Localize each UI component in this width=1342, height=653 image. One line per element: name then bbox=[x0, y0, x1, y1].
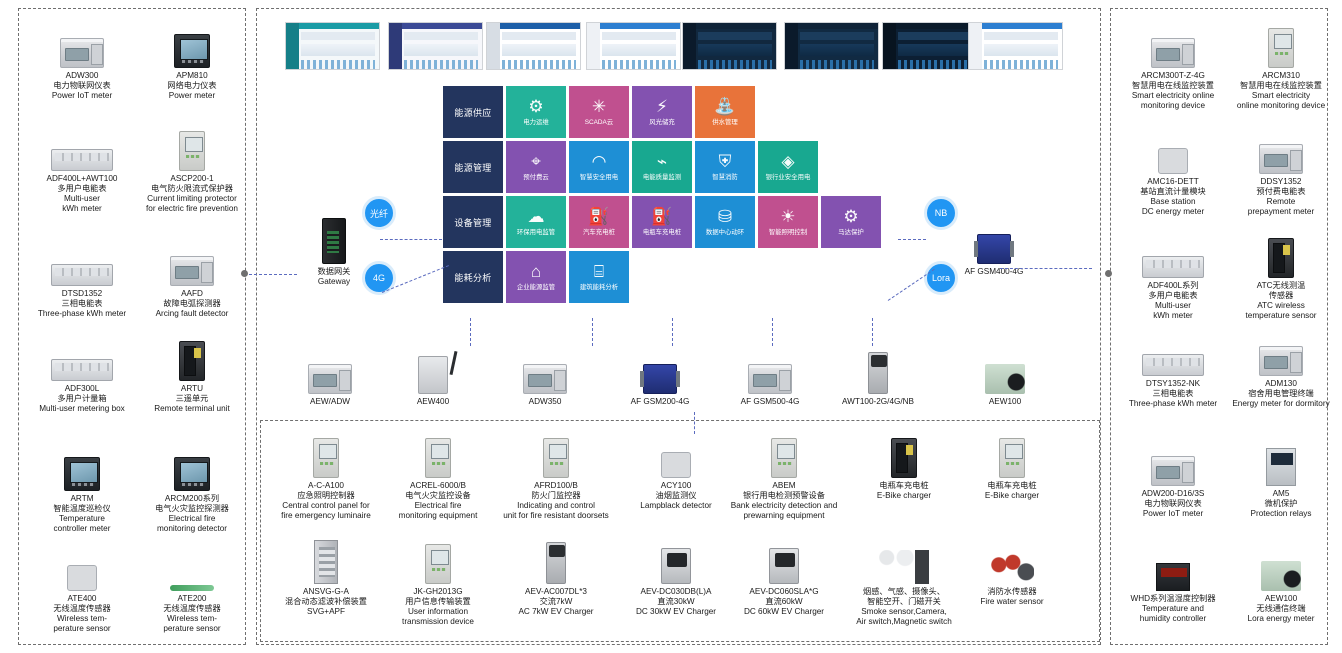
gateway-device-icon bbox=[300, 218, 368, 264]
device-en-label: Power meter bbox=[142, 91, 242, 101]
tile-icon: ◠ bbox=[592, 153, 607, 170]
network-badge-fiber-label: 光纤 bbox=[370, 207, 388, 220]
device-en-label: Energy meter for dormitory bbox=[1230, 399, 1332, 409]
device-en-label: Remote prepayment meter bbox=[1230, 197, 1332, 217]
platform-tile-电力运维[interactable]: ⚙电力运维 bbox=[506, 86, 566, 138]
tile-row-label-text: 能源供应 bbox=[454, 106, 491, 119]
device-en-label: User information transmission device bbox=[382, 607, 494, 627]
network-badge-lora[interactable]: Lora bbox=[924, 261, 958, 295]
device-model-label: DDSY1352 bbox=[1230, 177, 1332, 187]
device-model-label: AEV-DC030DB(L)A bbox=[620, 587, 732, 597]
device-model-label: ARCM310 bbox=[1230, 71, 1332, 81]
platform-tile-汽车充电桩[interactable]: ⛽汽车充电桩 bbox=[569, 196, 629, 248]
thumbnail-topbar bbox=[587, 23, 680, 29]
tile-icon: ⌁ bbox=[657, 153, 667, 170]
thumbnail-sidebar bbox=[487, 23, 500, 69]
tile-label: 供水管理 bbox=[710, 119, 740, 126]
device-en-label: Temperature and humidity controller bbox=[1122, 604, 1224, 624]
device-cn-label: 应急照明控制器 bbox=[270, 491, 382, 501]
connector-drop-2 bbox=[592, 318, 593, 346]
tile-icon: ☀ bbox=[780, 208, 795, 225]
device-model-label: AWT100-2G/4G/NB bbox=[828, 397, 928, 407]
tile-label: 电瓶车充电桩 bbox=[641, 229, 683, 236]
device-cn-label: 三相电能表 bbox=[32, 299, 132, 309]
lora-meter-icon bbox=[955, 348, 1055, 394]
thumbnail-body bbox=[502, 32, 576, 66]
thumbnail-body bbox=[800, 32, 874, 66]
device-en-label: Central control panel for fire emergency… bbox=[270, 501, 382, 521]
device-model-label: ADW300 bbox=[32, 71, 132, 81]
tile-icon: ⛨ bbox=[719, 153, 732, 170]
din-rail-meter-icon bbox=[1230, 330, 1332, 376]
device-cell: AEW100无线通信终端Lora energy meter bbox=[1230, 545, 1332, 624]
tile-icon: ☁ bbox=[528, 208, 545, 225]
connector-drop-3 bbox=[672, 318, 673, 346]
tile-row-label-text: 设备管理 bbox=[454, 216, 491, 229]
platform-tile-风光储充[interactable]: ⚡风光储充 bbox=[632, 86, 692, 138]
device-cell: WHD系列温湿度控制器Temperature and humidity cont… bbox=[1122, 545, 1224, 624]
device-cell: ARTU三遥单元Remote terminal unit bbox=[142, 335, 242, 414]
device-cell: AEV-AC007DL*3交流7kWAC 7kW EV Charger bbox=[500, 538, 612, 617]
thumbnail-sidebar bbox=[883, 23, 896, 69]
din-rail-meter-icon bbox=[720, 348, 820, 394]
device-cn-label: 宿舍用电管理终端 bbox=[1230, 389, 1332, 399]
device-cell: DTSY1352-NK三相电能表Three-phase kWh meter bbox=[1122, 330, 1224, 409]
device-en-label: Multi-user metering box bbox=[32, 404, 132, 414]
device-en-label: Electrical fire monitoring detector bbox=[142, 514, 242, 534]
sensor-set-icon bbox=[848, 538, 960, 584]
device-en-label: Electrical fire monitoring equipment bbox=[382, 501, 494, 521]
device-cell: AEV-DC030DB(L)A直流30kWDC 30kW EV Charger bbox=[620, 538, 732, 617]
platform-module-grid: 能源供应⚙电力运维✳SCADA云⚡风光储充⛲供水管理能源管理⌖预付费云◠智慧安全… bbox=[443, 86, 884, 306]
device-cell: ADF400L系列多用户电能表Multi-user kWh meter bbox=[1122, 232, 1224, 321]
device-cn-label: 多用户电能表 bbox=[1122, 291, 1224, 301]
network-badge-fiber[interactable]: 光纤 bbox=[362, 196, 396, 230]
network-badge-4g-label: 4G bbox=[373, 273, 385, 283]
tile-row-label: 能源管理 bbox=[443, 141, 503, 193]
device-en-label: Wireless tem- perature sensor bbox=[32, 614, 132, 634]
device-model-label: DTSY1352-NK bbox=[1122, 379, 1224, 389]
ct-meter-icon bbox=[1122, 440, 1224, 486]
device-cn-label: 微机保护 bbox=[1230, 499, 1332, 509]
platform-tile-马达保护[interactable]: ⚙马达保护 bbox=[821, 196, 881, 248]
network-badge-4g[interactable]: 4G bbox=[362, 261, 396, 295]
device-cell: AF GSM200-4G bbox=[610, 348, 710, 407]
device-model-label: ACY100 bbox=[620, 481, 732, 491]
multi-user-meter-icon bbox=[1122, 232, 1224, 278]
device-cell: ARTM智能温度巡检仪Temperature controller meter bbox=[32, 445, 132, 534]
cabinet-icon bbox=[382, 432, 494, 478]
light-charger-icon bbox=[956, 432, 1068, 478]
device-cell: A-C-A100应急照明控制器Central control panel for… bbox=[270, 432, 382, 521]
tile-label: 数据中心动环 bbox=[704, 229, 746, 236]
platform-tile-企业能源监管[interactable]: ⌂企业能源监管 bbox=[506, 251, 566, 303]
device-en-label: Current limiting protector for electric … bbox=[142, 194, 242, 214]
probe-sensor-icon bbox=[142, 545, 242, 591]
temp-controller-icon bbox=[1122, 545, 1224, 591]
tile-row-label-text: 能源管理 bbox=[454, 161, 491, 174]
tile-icon: ⛽ bbox=[588, 208, 609, 225]
device-model-label: ARCM200系列 bbox=[142, 494, 242, 504]
tile-label: 风光储充 bbox=[647, 119, 677, 126]
device-model-label: AF GSM500-4G bbox=[720, 397, 820, 407]
device-model-label: AEV-DC060SLA*G bbox=[728, 587, 840, 597]
device-cn-label: 电气火灾监控探测器 bbox=[142, 504, 242, 514]
thumbnail-topbar bbox=[487, 23, 580, 29]
device-cn-label: 智慧用电在线监控装置 bbox=[1122, 81, 1224, 91]
tile-row-label: 能耗分析 bbox=[443, 251, 503, 303]
gateway-node: 数据网关 Gateway bbox=[300, 218, 368, 287]
thumbnail-body bbox=[984, 32, 1058, 66]
thumbnail-dashboard-navy[interactable] bbox=[388, 22, 483, 70]
thumbnail-sidebar bbox=[389, 23, 402, 69]
device-cell: AM5微机保护Protection relays bbox=[1230, 440, 1332, 519]
device-en-label: E-Bike charger bbox=[848, 491, 960, 501]
device-cn-label: 无线温度传感器 bbox=[32, 604, 132, 614]
device-en-label: Smart electricity online monitoring devi… bbox=[1230, 91, 1332, 111]
device-cn-label: 预付费电能表 bbox=[1230, 187, 1332, 197]
ev-box-icon bbox=[620, 538, 732, 584]
thumbnail-topbar bbox=[969, 23, 1062, 29]
device-model-label: ATE200 bbox=[142, 594, 242, 604]
device-cn-label: 电气火灾监控设备 bbox=[382, 491, 494, 501]
device-cn-label: 用户信息传输装置 bbox=[382, 597, 494, 607]
device-model-label: ASCP200-1 bbox=[142, 174, 242, 184]
device-cn-label: 电气防火限流式保护器 bbox=[142, 184, 242, 194]
tile-icon: ⛲ bbox=[714, 98, 735, 115]
tile-row-label-text: 能耗分析 bbox=[454, 271, 491, 284]
device-model-label: AFRD100/B bbox=[500, 481, 612, 491]
device-cell: ATE400无线温度传感器Wireless tem- perature sens… bbox=[32, 545, 132, 634]
tile-label: 企业能源监管 bbox=[515, 284, 557, 291]
device-cell: ACY100油烟监测仪Lampblack detector bbox=[620, 432, 732, 511]
device-cell: AF GSM500-4G bbox=[720, 348, 820, 407]
thumbnail-dashboard-map-cn[interactable] bbox=[784, 22, 879, 70]
device-cell: ADF300L多用户计量箱Multi-user metering box bbox=[32, 335, 132, 414]
thumbnail-sidebar bbox=[587, 23, 600, 69]
gateway-label-cn: 数据网关 bbox=[300, 267, 368, 277]
thumbnail-dashboard-teal[interactable] bbox=[285, 22, 380, 70]
din-rail-meter-icon bbox=[142, 240, 242, 286]
din-rail-meter-icon bbox=[1122, 22, 1224, 68]
device-cell: AEW100 bbox=[955, 348, 1055, 407]
tile-label: 电力运维 bbox=[521, 119, 551, 126]
device-cell: ARCM200系列电气火灾监控探测器Electrical fire monito… bbox=[142, 445, 242, 534]
device-model-label: ARTM bbox=[32, 494, 132, 504]
tile-icon: ⌂ bbox=[531, 263, 541, 280]
device-model-label: ANSVG-G-A bbox=[270, 587, 382, 597]
device-model-label: APM810 bbox=[142, 71, 242, 81]
device-model-label: ADM130 bbox=[1230, 379, 1332, 389]
device-en-label: DC 30kW EV Charger bbox=[620, 607, 732, 617]
platform-tile-数据中心动环[interactable]: ⛁数据中心动环 bbox=[695, 196, 755, 248]
thumbnail-topbar bbox=[883, 23, 976, 29]
console-icon bbox=[270, 432, 382, 478]
tile-label: 银行业安全用电 bbox=[764, 174, 813, 181]
lampblack-icon bbox=[620, 432, 732, 478]
cabinet-icon bbox=[500, 432, 612, 478]
tile-icon: ⚙ bbox=[528, 98, 543, 115]
device-cn-label: 无线通信终端 bbox=[1230, 604, 1332, 614]
platform-tile-智慧安全用电[interactable]: ◠智慧安全用电 bbox=[569, 141, 629, 193]
tile-label: 马达保护 bbox=[836, 229, 866, 236]
device-cell: DDSY1352预付费电能表Remote prepayment meter bbox=[1230, 128, 1332, 217]
fire-water-icon bbox=[956, 538, 1068, 584]
device-cell: AMC16-DETT基站直流计量模块Base station DC energy… bbox=[1122, 128, 1224, 217]
device-cell: ADW350 bbox=[495, 348, 595, 407]
thumbnail-topbar bbox=[389, 23, 482, 29]
thumbnail-sidebar bbox=[683, 23, 696, 69]
connector-gsm400-to-right bbox=[1000, 268, 1092, 269]
thumbnail-dashboard-dark[interactable] bbox=[682, 22, 777, 70]
platform-tile-电能质量监测[interactable]: ⌁电能质量监测 bbox=[632, 141, 692, 193]
device-cell: AAFD故障电弧探测器Arcing fault detector bbox=[142, 240, 242, 319]
device-cn-label: 多用户电能表 bbox=[32, 184, 132, 194]
device-cn-label: 直流60kW bbox=[728, 597, 840, 607]
device-cell: AEV-DC060SLA*G直流60kWDC 60kW EV Charger bbox=[728, 538, 840, 617]
device-cell: ATE200无线温度传感器Wireless tem- perature sens… bbox=[142, 545, 242, 634]
thumbnail-topbar bbox=[683, 23, 776, 29]
tile-icon: ✳ bbox=[592, 98, 606, 115]
thumbnail-dashboard-map-dark[interactable] bbox=[882, 22, 977, 70]
panel-meter-icon bbox=[32, 445, 132, 491]
multi-user-meter-icon bbox=[32, 240, 132, 286]
cabinet-icon bbox=[142, 125, 242, 171]
tile-label: 智慧消防 bbox=[710, 174, 740, 181]
platform-tile-SCADA云[interactable]: ✳SCADA云 bbox=[569, 86, 629, 138]
device-cn-label: 烟感、气感、摄像头、 智能空开、门磁开关 bbox=[848, 587, 960, 607]
tile-label: 建筑能耗分析 bbox=[578, 284, 620, 291]
device-model-label: AF GSM200-4G bbox=[610, 397, 710, 407]
thumbnail-dashboard-colorbar[interactable] bbox=[586, 22, 681, 70]
platform-tile-供水管理[interactable]: ⛲供水管理 bbox=[695, 86, 755, 138]
device-cn-label: 三遥单元 bbox=[142, 394, 242, 404]
device-cn-label: 直流30kW bbox=[620, 597, 732, 607]
device-en-label: Base station DC energy meter bbox=[1122, 197, 1224, 217]
device-model-label: AMC16-DETT bbox=[1122, 177, 1224, 187]
dark-charger-icon bbox=[848, 432, 960, 478]
tile-label: 预付费云 bbox=[521, 174, 551, 181]
connector-drop-5 bbox=[872, 318, 873, 346]
din-rail-antenna-icon bbox=[495, 348, 595, 394]
device-cell: AEW/ADW bbox=[280, 348, 380, 407]
device-cn-label: 油烟监测仪 bbox=[620, 491, 732, 501]
device-cell: DTSD1352三相电能表Three-phase kWh meter bbox=[32, 240, 132, 319]
device-cn-label: 三相电能表 bbox=[1122, 389, 1224, 399]
device-model-label: ATE400 bbox=[32, 594, 132, 604]
device-en-label: E-Bike charger bbox=[956, 491, 1068, 501]
device-model-label: AEW100 bbox=[955, 397, 1055, 407]
svg-cabinet-icon bbox=[270, 538, 382, 584]
device-en-label: Multi-user kWh meter bbox=[32, 194, 132, 214]
device-cn-label: 电力物联网仪表 bbox=[1122, 499, 1224, 509]
device-en-label: Wireless tem- perature sensor bbox=[142, 614, 242, 634]
device-model-label: ADF400L+AWT100 bbox=[32, 174, 132, 184]
device-cn-label: 电力物联网仪表 bbox=[32, 81, 132, 91]
tile-label: 汽车充电桩 bbox=[581, 229, 617, 236]
din-rail-meter-icon bbox=[1230, 128, 1332, 174]
device-cn-label: 防火门监控器 bbox=[500, 491, 612, 501]
device-cell: ANSVG-G-A混合动态滤波补偿装置SVG+APF bbox=[270, 538, 382, 617]
dark-cabinet-icon bbox=[142, 335, 242, 381]
tile-row-0: 能源供应⚙电力运维✳SCADA云⚡风光储充⛲供水管理 bbox=[443, 86, 884, 138]
cabinet-icon bbox=[382, 538, 494, 584]
device-cell: AEW400 bbox=[383, 348, 483, 407]
cabinet-icon bbox=[728, 432, 840, 478]
device-cell: 电瓶车充电桩E-Bike charger bbox=[848, 432, 960, 501]
device-en-label: Three-phase kWh meter bbox=[32, 309, 132, 319]
tile-label: 智慧安全用电 bbox=[578, 174, 620, 181]
device-cn-label: 银行用电检测预警设备 bbox=[728, 491, 840, 501]
diagram-root: 能源供应⚙电力运维✳SCADA云⚡风光储充⛲供水管理能源管理⌖预付费云◠智慧安全… bbox=[0, 0, 1342, 653]
device-model-label: JK-GH2013G bbox=[382, 587, 494, 597]
connector-platform-to-nb bbox=[898, 239, 926, 240]
network-badge-nb-label: NB bbox=[935, 208, 948, 218]
panel-meter-icon bbox=[142, 445, 242, 491]
device-cn-label: 多用户计量箱 bbox=[32, 394, 132, 404]
thumbnail-body bbox=[602, 32, 676, 66]
device-model-label: ADW200-D16/3S bbox=[1122, 489, 1224, 499]
device-cell: ATC无线测温传感器ATC wireless temperature senso… bbox=[1230, 232, 1332, 321]
relay-icon bbox=[1230, 440, 1332, 486]
device-model-label: ARTU bbox=[142, 384, 242, 394]
device-cn-label: 故障电弧探测器 bbox=[142, 299, 242, 309]
device-cn-label: 基站直流计量模块 bbox=[1122, 187, 1224, 197]
thumbnail-sidebar bbox=[286, 23, 299, 69]
thumbnail-body bbox=[698, 32, 772, 66]
device-en-label: Bank electricity detection and prewarnin… bbox=[728, 501, 840, 521]
tile-icon: ⚡ bbox=[656, 98, 668, 115]
device-cn-label: 电瓶车充电桩 bbox=[848, 481, 960, 491]
tile-row-label: 设备管理 bbox=[443, 196, 503, 248]
device-cell: 消防水传感器Fire water sensor bbox=[956, 538, 1068, 607]
tile-icon: ⚙ bbox=[843, 208, 858, 225]
connector-fiber-to-platform bbox=[380, 239, 442, 240]
platform-tile-电瓶车充电桩[interactable]: ⛽电瓶车充电桩 bbox=[632, 196, 692, 248]
device-model-label: AAFD bbox=[142, 289, 242, 299]
thumbnail-dashboard-report[interactable] bbox=[968, 22, 1063, 70]
device-en-label: DC 60kW EV Charger bbox=[728, 607, 840, 617]
device-en-label: Remote terminal unit bbox=[142, 404, 242, 414]
device-cell: APM810网络电力仪表Power meter bbox=[142, 22, 242, 101]
device-en-label: Protection relays bbox=[1230, 509, 1332, 519]
multi-user-meter-icon bbox=[1122, 330, 1224, 376]
dark-cabinet-icon bbox=[1230, 232, 1332, 278]
device-cell: ASCP200-1电气防火限流式保护器Current limiting prot… bbox=[142, 125, 242, 214]
device-cell: ACREL-6000/B电气火灾监控设备Electrical fire moni… bbox=[382, 432, 494, 521]
tile-label: 智能照明控制 bbox=[767, 229, 809, 236]
device-model-label: ARCM300T-Z-4G bbox=[1122, 71, 1224, 81]
device-en-label: Indicating and control unit for fire res… bbox=[500, 501, 612, 521]
device-model-label: ABEM bbox=[728, 481, 840, 491]
device-cn-label: 消防水传感器 bbox=[956, 587, 1068, 597]
node-right-bus bbox=[1105, 270, 1112, 277]
platform-tile-环保用电监管[interactable]: ☁环保用电监管 bbox=[506, 196, 566, 248]
device-model-label: ACREL-6000/B bbox=[382, 481, 494, 491]
network-badge-nb[interactable]: NB bbox=[924, 196, 958, 230]
thumbnail-sidebar bbox=[969, 23, 982, 69]
thumbnail-body bbox=[404, 32, 478, 66]
device-cell: ARCM300T-Z-4G智慧用电在线监控装置Smart electricity… bbox=[1122, 22, 1224, 111]
connector-drop-4 bbox=[772, 318, 773, 346]
device-model-label: ATC无线测温 bbox=[1230, 281, 1332, 291]
device-en-label: Three-phase kWh meter bbox=[1122, 399, 1224, 409]
slim-module-icon bbox=[1230, 22, 1332, 68]
device-cell: ADW200-D16/3S电力物联网仪表Power IoT meter bbox=[1122, 440, 1224, 519]
node-left-bus bbox=[241, 270, 248, 277]
device-en-label: Smart electricity online monitoring devi… bbox=[1122, 91, 1224, 111]
device-cn-label: 智能温度巡检仪 bbox=[32, 504, 132, 514]
device-en-label: Multi-user kWh meter bbox=[1122, 301, 1224, 321]
din-rail-gateway-icon bbox=[280, 348, 380, 394]
router-icon bbox=[383, 348, 483, 394]
thumbnail-body bbox=[898, 32, 972, 66]
tile-label: SCADA云 bbox=[583, 119, 615, 126]
temp-sensor-icon bbox=[32, 545, 132, 591]
device-model-label: WHD系列温湿度控制器 bbox=[1122, 594, 1224, 604]
tile-label: 环保用电监管 bbox=[515, 229, 557, 236]
tile-icon: ⌸ bbox=[594, 263, 604, 280]
device-en-label: Arcing fault detector bbox=[142, 309, 242, 319]
device-cell: 烟感、气感、摄像头、 智能空开、门磁开关Smoke sensor,Camera,… bbox=[848, 538, 960, 627]
device-cell: AFRD100/B防火门监控器Indicating and control un… bbox=[500, 432, 612, 521]
platform-tile-银行业安全用电[interactable]: ◈银行业安全用电 bbox=[758, 141, 818, 193]
gateway-label-en: Gateway bbox=[300, 277, 368, 287]
device-model-label: ADW350 bbox=[495, 397, 595, 407]
device-en-label: Lora energy meter bbox=[1230, 614, 1332, 624]
platform-tile-智慧消防[interactable]: ⛨智慧消防 bbox=[695, 141, 755, 193]
device-en-label: AC 7kW EV Charger bbox=[500, 607, 612, 617]
lora-meter-icon bbox=[1230, 545, 1332, 591]
thumbnail-body bbox=[301, 32, 375, 66]
metering-box-icon bbox=[32, 335, 132, 381]
device-cell: ARCM310智慧用电在线监控装置Smart electricity onlin… bbox=[1230, 22, 1332, 111]
tile-icon: ⌖ bbox=[531, 153, 541, 170]
thumbnail-sidebar bbox=[785, 23, 798, 69]
device-en-label: Lampblack detector bbox=[620, 501, 732, 511]
thumbnail-dashboard-chart[interactable] bbox=[486, 22, 581, 70]
device-cn-label: 电瓶车充电桩 bbox=[956, 481, 1068, 491]
device-cn-label: 网络电力仪表 bbox=[142, 81, 242, 91]
device-cell: 电瓶车充电桩E-Bike charger bbox=[956, 432, 1068, 501]
ev-post-icon bbox=[500, 538, 612, 584]
device-model-label: AM5 bbox=[1230, 489, 1332, 499]
device-cell: ADM130宿舍用电管理终端Energy meter for dormitory bbox=[1230, 330, 1332, 409]
gsm-box-icon bbox=[950, 218, 1038, 264]
device-model-label: AEW400 bbox=[383, 397, 483, 407]
device-cell: ABEM银行用电检测预警设备Bank electricity detection… bbox=[728, 432, 840, 521]
platform-tile-建筑能耗分析[interactable]: ⌸建筑能耗分析 bbox=[569, 251, 629, 303]
platform-tile-预付费云[interactable]: ⌖预付费云 bbox=[506, 141, 566, 193]
din-rail-meter-icon bbox=[32, 22, 132, 68]
wireless-stick-icon bbox=[828, 348, 928, 394]
tile-icon: ◈ bbox=[781, 153, 794, 170]
tile-row-3: 能耗分析⌂企业能源监管⌸建筑能耗分析 bbox=[443, 251, 884, 303]
module-box-icon bbox=[1122, 128, 1224, 174]
device-model-label: A-C-A100 bbox=[270, 481, 382, 491]
device-cn-label: 交流7kW bbox=[500, 597, 612, 607]
device-model-label: AEV-AC007DL*3 bbox=[500, 587, 612, 597]
device-en-label: SVG+APF bbox=[270, 607, 382, 617]
multi-user-meter-icon bbox=[32, 125, 132, 171]
platform-tile-智能照明控制[interactable]: ☀智能照明控制 bbox=[758, 196, 818, 248]
device-cell: AWT100-2G/4G/NB bbox=[828, 348, 928, 407]
tile-row-2: 设备管理☁环保用电监管⛽汽车充电桩⛽电瓶车充电桩⛁数据中心动环☀智能照明控制⚙马… bbox=[443, 196, 884, 248]
device-cell: ADF400L+AWT100多用户电能表Multi-user kWh meter bbox=[32, 125, 132, 214]
thumbnail-topbar bbox=[785, 23, 878, 29]
tile-row-1: 能源管理⌖预付费云◠智慧安全用电⌁电能质量监测⛨智慧消防◈银行业安全用电 bbox=[443, 141, 884, 193]
network-badge-lora-label: Lora bbox=[932, 273, 950, 283]
